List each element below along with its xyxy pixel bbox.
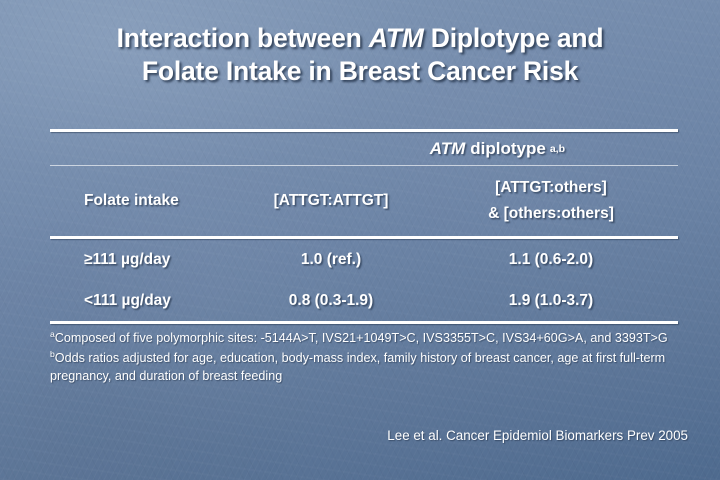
source-citation: Lee et al. Cancer Epidemiol Biomarkers P… <box>30 428 688 443</box>
group-header-label: diplotype <box>470 139 546 159</box>
slide-title: Interaction between ATM Diplotype and Fo… <box>30 22 690 89</box>
column-header-attgt-others: [ATTGT:others] & [others:others] <box>424 175 678 226</box>
results-table: ATMdiplotypea,b Folate intake [ATTGT:ATT… <box>50 129 678 324</box>
table-row: <111 µg/day 0.8 (0.3-1.9) 1.9 (1.0-3.7) <box>50 280 678 321</box>
title-gene-name: ATM <box>369 23 424 53</box>
footnote-b-text: Odds ratios adjusted for age, education,… <box>50 351 665 383</box>
slide-content: Interaction between ATM Diplotype and Fo… <box>0 0 720 480</box>
column-header-attgt-attgt: [ATTGT:ATTGT] <box>238 192 424 210</box>
footnote-a-text: Composed of five polymorphic sites: -514… <box>55 331 668 345</box>
table-group-header: ATMdiplotypea,b <box>50 132 678 165</box>
table-header-row: Folate intake [ATTGT:ATTGT] [ATTGT:other… <box>50 166 678 236</box>
title-line-2: Folate Intake in Breast Cancer Risk <box>142 56 578 86</box>
title-line-1: Interaction between ATM Diplotype and <box>117 23 604 53</box>
title-text-before-gene: Interaction between <box>117 23 369 53</box>
column-header-folate-intake: Folate intake <box>50 192 238 210</box>
column-header-attgt-others-line2: & [others:others] <box>488 205 614 222</box>
title-text-after-gene: Diplotype and <box>424 23 604 53</box>
row-value-high-intake-col3: 1.1 (0.6-2.0) <box>424 247 678 273</box>
row-label-high-intake: ≥111 µg/day <box>50 251 238 269</box>
group-header-superscript: a,b <box>550 143 565 155</box>
group-header-gene: ATM <box>430 139 466 159</box>
row-value-low-intake-col3: 1.9 (1.0-3.7) <box>424 288 678 314</box>
row-label-low-intake: <111 µg/day <box>50 292 238 310</box>
row-value-high-intake-col2: 1.0 (ref.) <box>238 251 424 269</box>
table-row: ≥111 µg/day 1.0 (ref.) 1.1 (0.6-2.0) <box>50 239 678 280</box>
presentation-slide: Interaction between ATM Diplotype and Fo… <box>0 0 720 480</box>
footnote-b: bOdds ratios adjusted for age, education… <box>50 348 680 386</box>
table-bottom-rule <box>50 321 678 324</box>
footnote-a: aComposed of five polymorphic sites: -51… <box>50 328 680 348</box>
footnotes: aComposed of five polymorphic sites: -51… <box>50 328 680 386</box>
row-value-low-intake-col2: 0.8 (0.3-1.9) <box>238 292 424 310</box>
column-header-attgt-others-line1: [ATTGT:others] <box>495 179 607 196</box>
